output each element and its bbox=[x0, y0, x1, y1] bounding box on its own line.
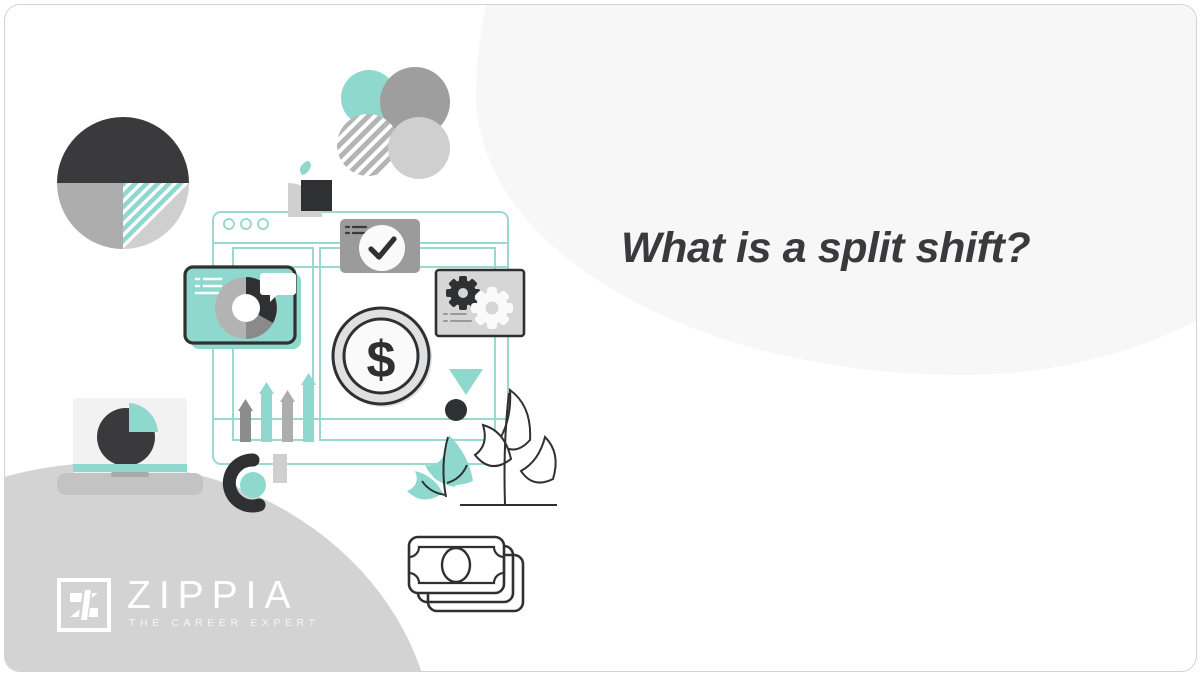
zippia-wordmark: ZIPPIA bbox=[127, 577, 320, 614]
square-dark-icon bbox=[301, 180, 332, 211]
screenshot-stage: $ bbox=[0, 0, 1201, 676]
laptop-pie-icon bbox=[57, 398, 203, 495]
leaf-teal-icon bbox=[407, 435, 473, 500]
triangle-teal-icon bbox=[449, 369, 483, 395]
zippia-logo[interactable]: ZIPPIA THE CAREER EXPERT bbox=[57, 577, 320, 632]
zippia-logo-text: ZIPPIA THE CAREER EXPERT bbox=[127, 577, 320, 632]
teal-donut-card bbox=[185, 267, 301, 349]
illustration: $ bbox=[5, 5, 625, 672]
banknotes-stack-icon bbox=[409, 537, 523, 611]
zippia-tagline: THE CAREER EXPERT bbox=[129, 617, 320, 630]
arrow-2 bbox=[259, 382, 274, 442]
flower-petals-icon bbox=[335, 65, 450, 179]
pie-chart-icon bbox=[57, 117, 189, 249]
window-dots-icon bbox=[224, 219, 268, 229]
arc-c-icon bbox=[229, 460, 266, 506]
gears-card bbox=[436, 269, 524, 338]
zippia-logo-mark-icon bbox=[57, 578, 111, 632]
dollar-coin-icon: $ bbox=[333, 308, 432, 407]
dot-dark-icon bbox=[445, 399, 467, 421]
content-card: $ bbox=[4, 4, 1197, 672]
checkmark-card bbox=[340, 219, 420, 273]
page-title: What is a split shift? bbox=[621, 224, 1161, 272]
svg-text:$: $ bbox=[367, 331, 396, 389]
bar-arrows-icon bbox=[238, 373, 316, 442]
teal-seed-icon bbox=[300, 161, 311, 175]
arrow-3 bbox=[280, 390, 295, 442]
rect-gray-small bbox=[273, 454, 287, 483]
arrow-1 bbox=[238, 399, 253, 442]
arrow-4 bbox=[301, 373, 316, 442]
